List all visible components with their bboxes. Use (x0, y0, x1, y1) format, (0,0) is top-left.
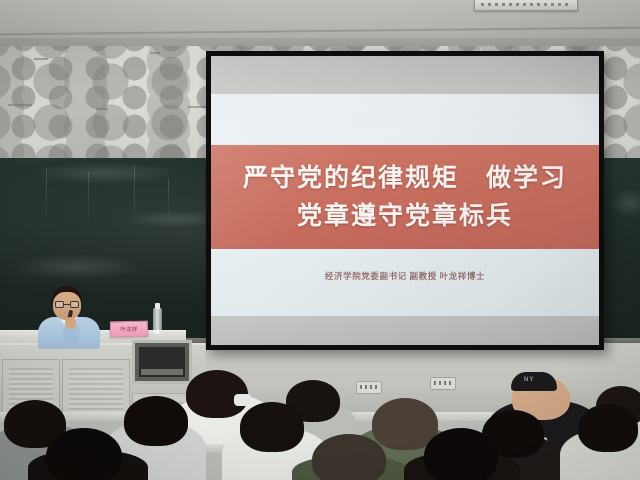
projected-slide: 严守党的纪律规矩 做学习 党章遵守党章标兵 经济学院党委副书记 副教授 叶龙祥博… (211, 56, 599, 345)
ceiling-projector-device (474, 0, 578, 11)
slide-title-banner: 严守党的纪律规矩 做学习 党章遵守党章标兵 (211, 145, 599, 249)
audience-head (424, 428, 498, 480)
speaker-person (38, 286, 100, 348)
ceiling-seam (0, 27, 640, 36)
audience-head (312, 434, 386, 480)
chalk-smudge (610, 188, 640, 218)
chalk-smudge (12, 254, 142, 280)
slide-top-band (211, 56, 599, 94)
slide-title-line-2: 党章遵守党章标兵 (297, 197, 513, 235)
speaker-hand (65, 317, 76, 329)
wall-mark (96, 108, 108, 110)
audience-head (578, 404, 638, 452)
audience-area: NY U.S.A (0, 378, 640, 480)
projection-screen: 严守党的纪律规矩 做学习 党章遵守党章标兵 经济学院党委副书记 副教授 叶龙祥博… (206, 51, 604, 350)
wall-mark (34, 58, 48, 60)
water-bottle (153, 308, 162, 334)
speaker-nameplate: 叶龙祥 (110, 321, 148, 338)
slide-title-line-1: 严守党的纪律规矩 做学习 (243, 159, 567, 197)
slide-subtitle: 经济学院党委副书记 副教授 叶龙祥博士 (211, 270, 599, 282)
cap-text: NY (524, 377, 534, 383)
slide-bottom-band (211, 316, 599, 345)
chalk-streak (88, 172, 89, 224)
audience-head (46, 428, 122, 480)
chalk-streak (46, 168, 47, 228)
nameplate-text: 叶龙祥 (120, 325, 138, 333)
face-mask (234, 394, 251, 406)
chalk-smudge (30, 162, 180, 184)
speaker-glasses (54, 301, 80, 308)
chalk-streak (134, 166, 135, 236)
chalk-streak (168, 178, 169, 222)
baseball-cap: NY (511, 372, 557, 391)
audience-head (124, 396, 188, 446)
wall-mark (8, 104, 32, 106)
audience-head (240, 402, 304, 452)
lecture-hall-photo: 严守党的纪律规矩 做学习 党章遵守党章标兵 经济学院党委副书记 副教授 叶龙祥博… (0, 0, 640, 480)
wall-mark (150, 52, 160, 54)
